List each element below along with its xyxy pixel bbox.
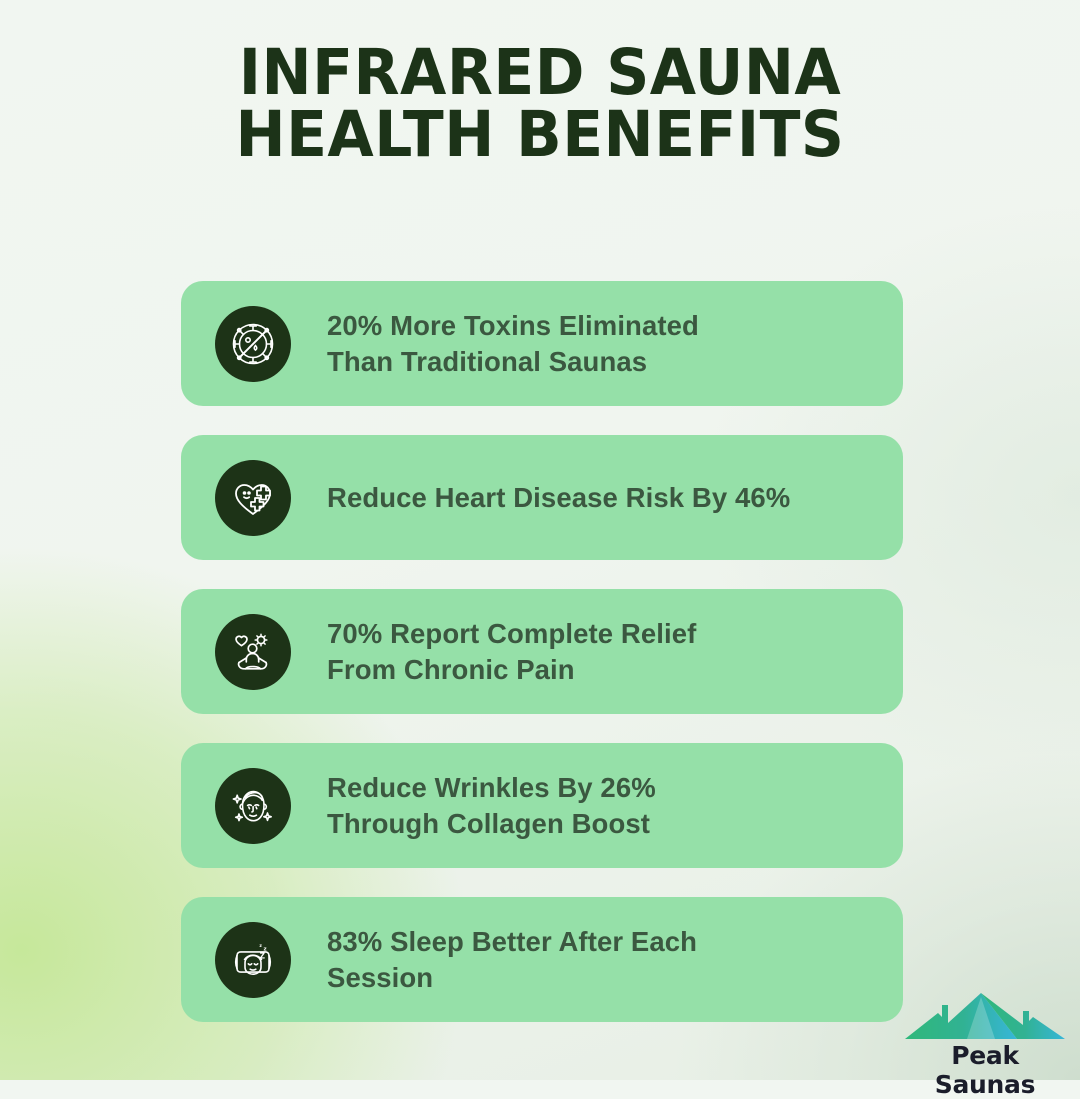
- benefit-line-2: Than Traditional Saunas: [327, 344, 699, 379]
- svg-text:z: z: [264, 946, 267, 952]
- infographic-page: INFRARED SAUNA HEALTH BENEFITS Deep-Pene…: [0, 0, 1080, 1080]
- title-line-2: HEALTH BENEFITS: [27, 104, 1053, 166]
- brand-logo: Peak Saunas: [903, 993, 1067, 1099]
- benefit-line-1: Reduce Wrinkles By 26%: [327, 770, 656, 805]
- glowing-face-icon: [215, 768, 291, 844]
- benefit-text: 20% More Toxins Eliminated Than Traditio…: [327, 308, 699, 379]
- no-toxins-virus-icon: [215, 306, 291, 382]
- page-title: INFRARED SAUNA HEALTH BENEFITS: [27, 42, 1053, 165]
- benefit-text: Reduce Wrinkles By 26% Through Collagen …: [327, 770, 656, 841]
- benefit-text: 70% Report Complete Relief From Chronic …: [327, 616, 696, 687]
- benefit-card: 70% Report Complete Relief From Chronic …: [181, 589, 903, 714]
- benefit-text: Reduce Heart Disease Risk By 46%: [327, 480, 790, 515]
- svg-text:z: z: [259, 944, 262, 949]
- benefit-line-1: Reduce Heart Disease Risk By 46%: [327, 480, 790, 515]
- heart-medical-cross-icon: [215, 460, 291, 536]
- svg-text:Z: Z: [260, 951, 266, 960]
- benefit-card: Z z z 83% Sleep Better After Each Sessio…: [181, 897, 903, 1022]
- benefit-line-1: 20% More Toxins Eliminated: [327, 308, 699, 343]
- benefit-line-2: Session: [327, 960, 697, 995]
- meditating-person-icon: [215, 614, 291, 690]
- benefit-card: Reduce Wrinkles By 26% Through Collagen …: [181, 743, 903, 868]
- sleeping-face-icon: Z z z: [215, 922, 291, 998]
- brand-name: Peak Saunas: [903, 1041, 1067, 1099]
- title-line-1: INFRARED SAUNA: [27, 42, 1053, 104]
- benefit-line-2: Through Collagen Boost: [327, 806, 656, 841]
- mountain-peaks-icon: [905, 993, 1065, 1039]
- benefit-line-1: 83% Sleep Better After Each: [327, 924, 697, 959]
- benefit-line-1: 70% Report Complete Relief: [327, 616, 696, 651]
- benefit-text: 83% Sleep Better After Each Session: [327, 924, 697, 995]
- benefits-list: 20% More Toxins Eliminated Than Traditio…: [181, 281, 903, 1051]
- benefit-card: 20% More Toxins Eliminated Than Traditio…: [181, 281, 903, 406]
- benefit-card: Reduce Heart Disease Risk By 46%: [181, 435, 903, 560]
- benefit-line-2: From Chronic Pain: [327, 652, 696, 687]
